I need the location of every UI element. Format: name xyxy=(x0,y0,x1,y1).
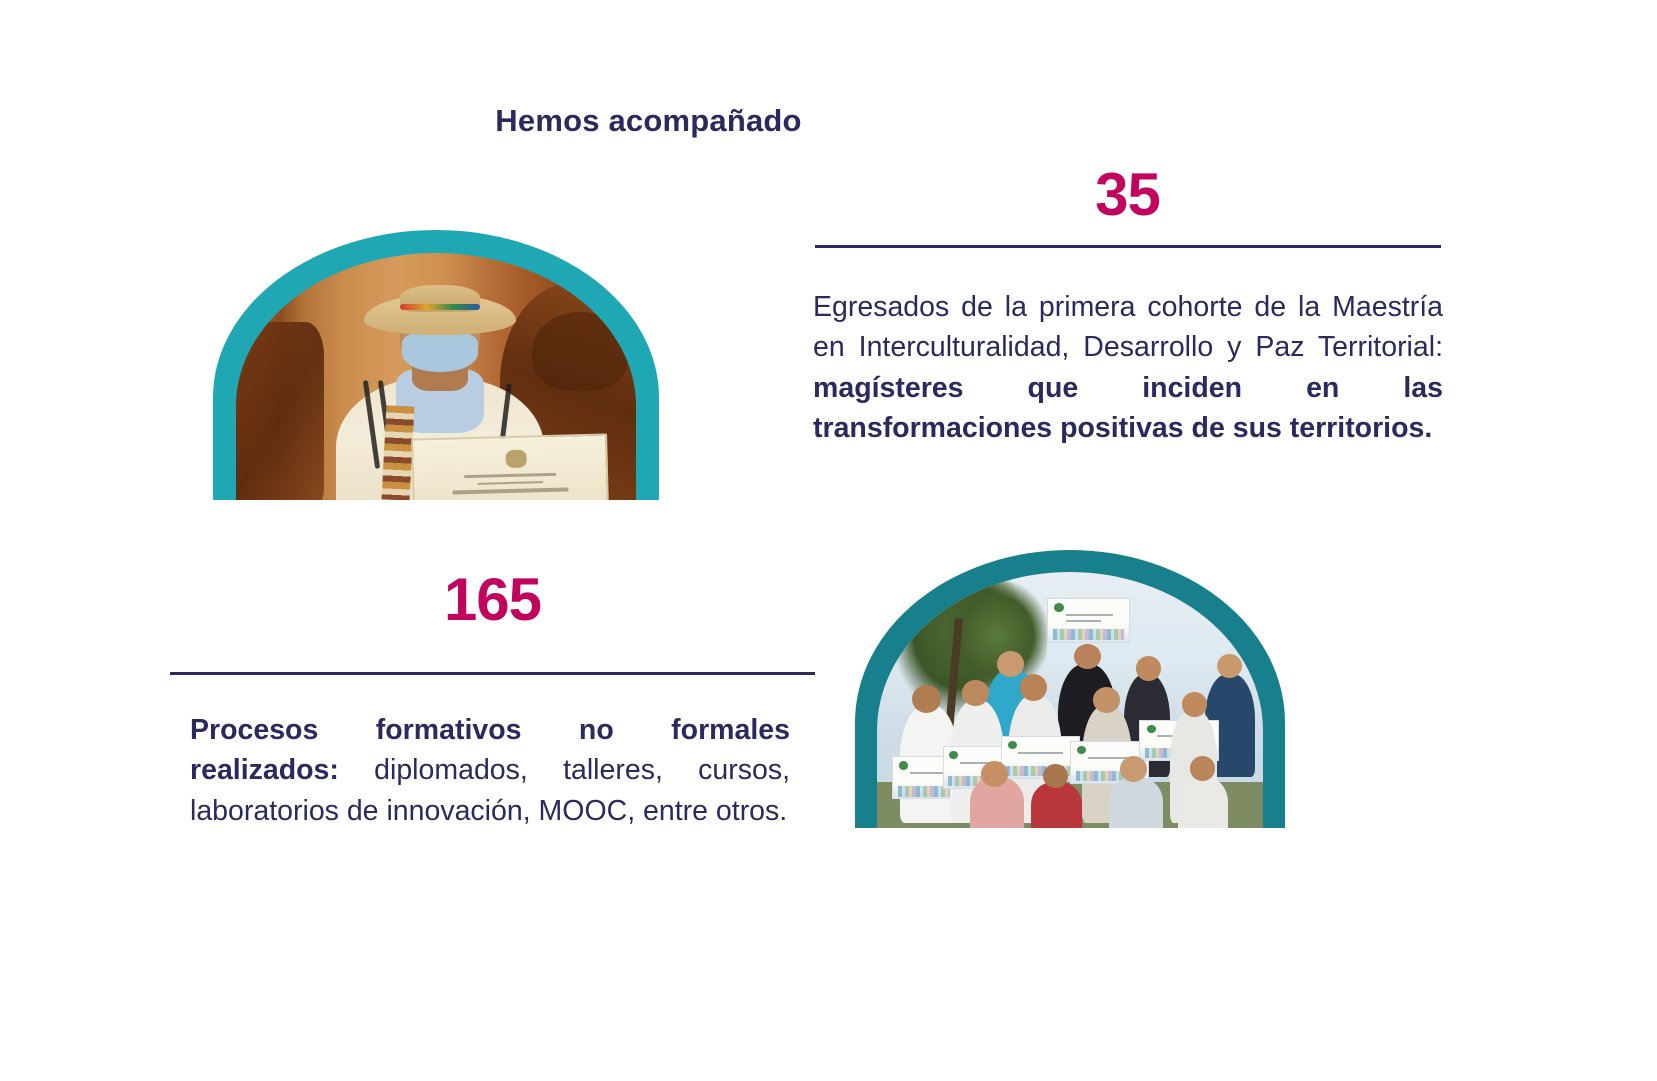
photo-group-image xyxy=(877,572,1263,828)
diploma xyxy=(411,433,609,500)
photo-graduate-with-diploma xyxy=(213,230,659,500)
diploma-text-line xyxy=(453,487,568,494)
certificate-line xyxy=(1066,614,1113,616)
scene-group xyxy=(877,572,1263,828)
stat-description-165: Procesos formativos no formales realizad… xyxy=(190,710,790,831)
photo-group-with-certificates xyxy=(855,550,1285,828)
diploma-text-line xyxy=(464,473,556,478)
certificate-line xyxy=(1066,620,1102,622)
certificate-badge xyxy=(949,751,958,759)
person-head xyxy=(962,680,989,707)
person-head xyxy=(1074,644,1101,670)
diploma-seal xyxy=(506,450,528,469)
person-head xyxy=(997,651,1024,677)
stat-35-emphasis: magísteres que inciden en las transforma… xyxy=(813,372,1443,444)
person-head xyxy=(1120,756,1147,782)
certificate-badge xyxy=(1147,725,1156,733)
certificate-line xyxy=(1018,752,1063,754)
woven-strap xyxy=(382,405,415,500)
scene-graduate xyxy=(236,253,636,500)
person-head xyxy=(1136,656,1161,680)
certificate-badge xyxy=(1008,741,1017,749)
person-head xyxy=(1020,674,1047,701)
person-head xyxy=(1093,687,1120,713)
person-head xyxy=(1182,692,1207,716)
certificate-badge xyxy=(899,761,908,769)
person xyxy=(1031,782,1081,828)
stat-divider-165 xyxy=(170,672,815,675)
photo-graduate-image xyxy=(236,253,636,500)
wood-carving-left xyxy=(236,322,324,500)
certificate-badge xyxy=(1077,746,1086,754)
poncho-stripe xyxy=(363,380,380,469)
stat-number-35: 35 xyxy=(815,160,1440,229)
certificate xyxy=(1001,736,1080,779)
stat-number-165: 165 xyxy=(170,565,815,634)
wood-carving-detail xyxy=(532,312,628,391)
person xyxy=(1178,777,1228,828)
page-title: Hemos acompañado xyxy=(0,103,1477,139)
stat-divider-35 xyxy=(815,245,1441,248)
person-head xyxy=(1217,654,1242,678)
certificate xyxy=(1047,598,1130,644)
person-head xyxy=(1190,756,1215,780)
person xyxy=(1109,777,1163,828)
certificate-badge xyxy=(1054,603,1064,612)
diploma-text-line xyxy=(478,480,543,484)
stat-description-35: Egresados de la primera cohorte de la Ma… xyxy=(813,287,1443,449)
hat-band-colors xyxy=(400,304,480,310)
stat-35-lead: Egresados de la primera cohorte de la Ma… xyxy=(813,291,1443,363)
person-head xyxy=(912,685,941,713)
face-mask xyxy=(402,332,478,372)
